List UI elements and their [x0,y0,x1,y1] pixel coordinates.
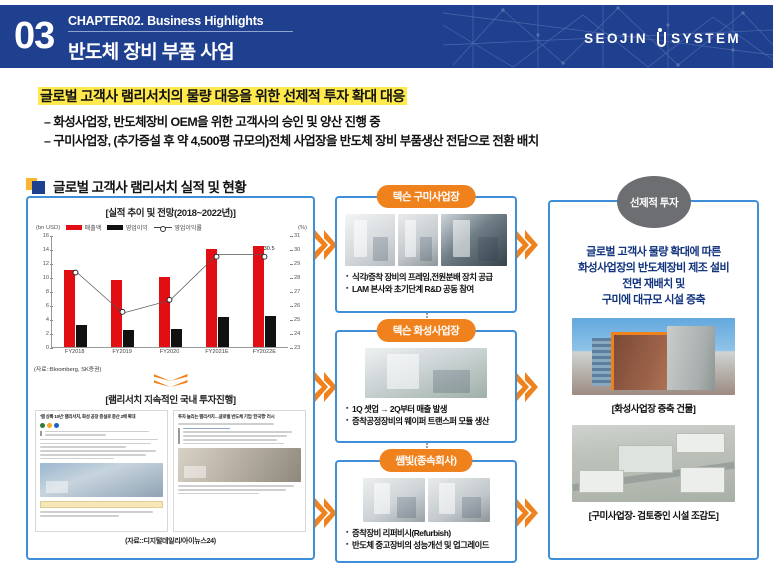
lead-bullet-text: 구미사업장, (추가증설 후 약 4,500평 규모의)전체 사업장을 반도체 … [53,134,538,148]
legend-line-operating-margin [154,225,172,230]
news-photo [178,448,301,482]
y-tick-right: 28 [294,275,300,281]
legend-label-operating-profit: 영업이익 [126,223,148,232]
share-icon-yellow [47,423,52,428]
box-bullet: ▪증착공정장비의 웨이퍼 트랜스퍼 모듈 생산 [346,415,507,427]
chapter-label: CHAPTER02. Business Highlights [68,14,488,31]
news-source-note: (자료::디지털데일리/아이뉴스24) [28,536,313,546]
news-clipping: 투자 늘리는 램리서치…글로벌 반도체 기업 '한국행' 러시 [173,410,306,532]
right-headline-line: 화성사업장의 반도체장비 제조 설비 [556,260,751,276]
equipment-photo-refurb-b [428,478,490,522]
box-pill-label: 텍슨 화성사업장 [377,319,476,342]
bullet-square-icon: ▪ [346,415,348,427]
lead-copy: 글로벌 고객사 램리서치의 물량 대응을 위한 선제적 투자 확대 대응 –화성… [38,86,758,151]
news-body-text [178,485,301,494]
news-clipping-grid: '램 상륙 10년' 램리서치, 화성 공장 증설로 증산 2배 확대 [35,410,306,532]
company-logo: SEOJIN SYSTEM [584,28,741,49]
box-bullet-text: 식각/증착 장비의 프레임,전원분배 장치 공급 [352,271,493,283]
middle-box-saembit: 쌤빛(종속회사) ▪증착장비 리퍼비시(Refurbish) ▪반도체 중고장비… [335,460,517,563]
box-bullet-list: ▪식각/증착 장비의 프레임,전원분배 장치 공급 ▪LAM 본사와 초기단계 … [346,271,507,295]
header-text-group: CHAPTER02. Business Highlights 반도체 장비 부품… [68,14,488,64]
y-tick-left: 0 [46,345,49,351]
equipment-photos [337,214,515,266]
left-section-title: 글로벌 고객사 램리서치 실적 및 현황 [53,176,246,196]
share-icon-blue [54,423,59,428]
box-bullet-list: ▪증착장비 리퍼비시(Refurbish) ▪반도체 중고장비의 성능개선 및 … [346,527,507,551]
y-tick-right: 29 [294,261,300,267]
left-panel: [실적 추이 및 전망(2018~2022년)] (bn USD) 매출액 영업… [26,196,315,560]
legend-label-operating-margin: 영업이익률 [174,223,202,232]
equipment-photo-frame [345,214,395,266]
y-tick-right: 30 [294,247,300,253]
bullet-square-icon: ▪ [346,403,348,415]
bullet-square-icon: ▪ [346,283,348,295]
logo-mark-icon [651,28,668,49]
chart-unit-right: (%) [298,225,307,231]
y-tick-left: 14 [43,247,49,253]
box-bullet: ▪식각/증착 장비의 프레임,전원분배 장치 공급 [346,271,507,283]
bullet-square-icon: ▪ [346,271,348,283]
chart-title: [실적 추이 및 전망(2018~2022년)] [28,205,313,219]
news-summary-box [178,428,301,445]
bullet-square-icon: ▪ [346,527,348,539]
y-axis-right: 31 30 29 28 27 26 25 24 23 [290,236,307,348]
lead-title: 글로벌 고객사 램리서치의 물량 대응을 위한 선제적 투자 확대 대응 [38,87,407,105]
box-bullet: ▪LAM 본사와 초기단계 R&D 공동 참여 [346,283,507,295]
equipment-photos [337,478,515,522]
y-tick-left: 12 [43,261,49,267]
lead-bullet: –구미사업장, (추가증설 후 약 4,500평 규모의)전체 사업장을 반도체… [38,132,758,151]
equipment-photo-refurb-a [363,478,425,522]
box-bullet-list: ▪1Q 셋업 → 2Q부터 매출 발생 ▪증착공정장비의 웨이퍼 트랜스퍼 모듈… [346,403,507,427]
right-headline: 글로벌 고객사 물량 확대에 따른 화성사업장의 반도체장비 제조 설비 전면 … [550,244,757,308]
news-clipping: '램 상륙 10년' 램리서치, 화성 공장 증설로 증산 2배 확대 [35,410,168,532]
y-tick-right: 31 [294,233,300,239]
lead-dash-icon: – [44,134,50,148]
middle-box-gumi: 텍슨 구미사업장 ▪식각/증착 장비의 프레임,전원분배 장치 공급 ▪LAM … [335,196,517,313]
photo-caption: [화성사업장 증축 건물] [550,401,757,415]
y-tick-right: 23 [294,345,300,351]
news-lead-quote [40,431,163,436]
legend-label-revenue: 매출액 [85,223,102,232]
legend-revenue: 매출액 [66,223,101,232]
box-bullet-text: 증착장비 리퍼비시(Refurbish) [352,527,451,539]
legend-operating-profit: 영업이익 [107,223,148,232]
y-tick-left: 4 [46,317,49,323]
box-pill-label: 쌤빛(종속회사) [380,449,473,472]
box-bullet: ▪1Q 셋업 → 2Q부터 매출 발생 [346,403,507,415]
x-tick-label: FY2021E [193,349,240,355]
down-chevron-icon [154,374,188,389]
box-bullet-text: 반도체 중고장비의 성능개선 및 업그레이드 [352,539,489,551]
y-axis-left: 16 14 12 10 8 6 4 2 0 [32,236,49,348]
lead-bullet-list: –화성사업장, 반도체장비 OEM을 위한 고객사의 승인 및 양산 진행 중 … [38,113,758,151]
y-tick-left: 8 [46,289,49,295]
logo-text-seojin: SEOJIN [584,31,648,46]
x-axis: FY2018 FY2019 FY2020 FY2021E FY2022E [51,349,288,355]
legend-operating-margin: 영업이익률 [154,223,202,232]
middle-box-hwaseong: 텍슨 화성사업장 ▪1Q 셋업 → 2Q부터 매출 발생 ▪증착공정장비의 웨이… [335,330,517,443]
chart-plot-area: 16 14 12 10 8 6 4 2 0 [32,236,307,361]
page-title: 반도체 장비 부품 사업 [68,37,488,64]
x-tick-label: FY2022E [241,349,288,355]
photo-hwaseong-building [572,318,735,395]
logo-text-system: SYSTEM [671,31,741,46]
news-headline: 투자 늘리는 램리서치…글로벌 반도체 기업 '한국행' 러시 [178,414,301,420]
box-bullet: ▪증착장비 리퍼비시(Refurbish) [346,527,507,539]
data-label-operating-margin: 30.5 [264,246,275,252]
equipment-photo-chamber [398,214,438,266]
lead-bullet: –화성사업장, 반도체장비 OEM을 위한 고객사의 승인 및 양산 진행 중 [38,113,758,132]
x-tick-label: FY2018 [51,349,98,355]
news-body-text [40,439,163,460]
news-share-icons [40,423,163,428]
y-tick-right: 25 [294,317,300,323]
news-body-text [178,423,301,425]
x-tick-label: FY2020 [146,349,193,355]
right-headline-line: 글로벌 고객사 물량 확대에 따른 [556,244,751,260]
news-headline: '램 상륙 10년' 램리서치, 화성 공장 증설로 증산 2배 확대 [40,414,163,420]
chevron-right-icon [516,498,542,528]
legend-swatch-revenue [66,225,82,230]
photo-gumi-rendering [572,425,735,502]
equipment-photos [337,348,515,398]
box-bullet-text: LAM 본사와 초기단계 R&D 공동 참여 [352,283,474,295]
status-badge-preemptive-investment: 선제적 투자 [617,176,691,228]
square-marker-icon [26,178,46,195]
lead-dash-icon: – [44,115,50,129]
news-body-text [40,511,163,516]
right-headline-line: 전면 재배치 및 [556,276,751,292]
right-headline-line: 구미에 대규모 시설 증축 [556,292,751,308]
y-tick-left: 6 [46,303,49,309]
slide-header: 03 CHAPTER02. Business Highlights 반도체 장비… [0,5,773,68]
y-tick-right: 24 [294,331,300,337]
y-tick-right: 26 [294,303,300,309]
slide-number: 03 [14,12,54,60]
y-tick-right: 27 [294,289,300,295]
chevron-right-icon [516,230,542,260]
x-tick-label: FY2019 [98,349,145,355]
legend-swatch-operating-profit [107,225,123,230]
equipment-photo-power-unit [441,214,507,266]
box-pill-label: 텍슨 구미사업장 [377,185,476,208]
box-bullet-text: 1Q 셋업 → 2Q부터 매출 발생 [352,403,447,415]
share-icon-green [40,423,45,428]
equipment-photo-fab-line [365,348,487,398]
news-caption-bar [40,501,163,508]
header-divider [68,31,293,32]
y-tick-left: 2 [46,331,49,337]
lead-bullet-text: 화성사업장, 반도체장비 OEM을 위한 고객사의 승인 및 양산 진행 중 [53,115,380,129]
news-photo [40,463,163,497]
chart-source-note: (자료::Bloomberg, SK증권) [34,364,313,373]
box-bullet-text: 증착공정장비의 웨이퍼 트랜스퍼 모듈 생산 [352,415,489,427]
chart-margin-markers [52,236,288,348]
chart-unit-left: (bn USD) [36,225,60,231]
chevron-right-icon [516,372,542,402]
right-panel: 글로벌 고객사 물량 확대에 따른 화성사업장의 반도체장비 제조 설비 전면 … [548,200,759,560]
y-tick-left: 10 [43,275,49,281]
photo-caption: [구미사업장- 검토중인 시설 조감도] [550,508,757,522]
y-tick-left: 16 [43,233,49,239]
chart-plot: 30.5 [51,236,288,348]
bullet-square-icon: ▪ [346,539,348,551]
left-section-heading: 글로벌 고객사 램리서치 실적 및 현황 [26,176,246,196]
chart-legend: (bn USD) 매출액 영업이익 영업이익률 (%) [36,223,307,232]
news-section-title: [램리서치 지속적인 국내 투자진행] [28,392,313,406]
box-bullet: ▪반도체 중고장비의 성능개선 및 업그레이드 [346,539,507,551]
